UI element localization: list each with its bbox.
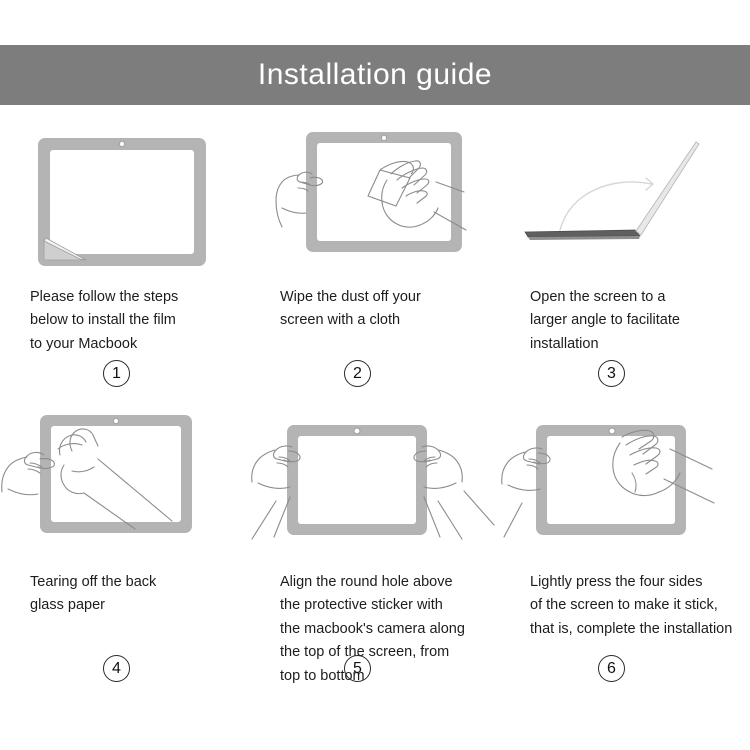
- step-2-line-2: screen with a cloth: [280, 309, 505, 332]
- step-4-line-2: glass paper: [30, 594, 255, 617]
- step-2-line-1: Wipe the dust off your: [280, 286, 505, 309]
- step-1-line-3: to your Macbook: [30, 333, 255, 356]
- step-1-text: Please follow the steps below to install…: [30, 286, 255, 356]
- step-2-illustration: [250, 120, 500, 280]
- step-badge-4: 4: [103, 655, 130, 682]
- step-card-1: Please follow the steps below to install…: [0, 120, 250, 405]
- step-6-line-2: of the screen to make it stick,: [530, 594, 750, 617]
- step-5-text: Align the round hole above the protectiv…: [280, 571, 520, 688]
- step-5-line-1: Align the round hole above: [280, 571, 520, 594]
- macbook-screen-icon: [306, 132, 462, 252]
- step-4-text: Tearing off the back glass paper: [30, 571, 255, 618]
- macbook-screen-icon: [287, 425, 427, 535]
- step-5-line-4: the top of the screen, from: [280, 641, 520, 664]
- step-1-illustration: [0, 120, 250, 280]
- step-3-line-3: installation: [530, 333, 750, 356]
- step-6-line-1: Lightly press the four sides: [530, 571, 750, 594]
- step-5-illustration: [250, 405, 500, 565]
- installation-guide-page: Installation guide: [0, 0, 750, 750]
- step-card-5: Align the round hole above the protectiv…: [250, 405, 500, 690]
- macbook-screen-icon: [38, 138, 206, 266]
- steps-grid: Please follow the steps below to install…: [0, 120, 750, 740]
- page-title: Installation guide: [258, 58, 492, 92]
- step-badge-1: 1: [103, 360, 130, 387]
- step-4-line-1: Tearing off the back: [30, 571, 255, 594]
- step-3-line-1: Open the screen to a: [530, 286, 750, 309]
- step-3-text: Open the screen to a larger angle to fac…: [530, 286, 750, 356]
- step-5-line-3: the macbook's camera along: [280, 618, 520, 641]
- step-badge-6: 6: [598, 655, 625, 682]
- step-5-line-5: top to bottom: [280, 665, 520, 688]
- step-card-3: Open the screen to a larger angle to fac…: [500, 120, 750, 405]
- step-6-illustration: [500, 405, 750, 565]
- macbook-screen-icon: [536, 425, 686, 535]
- step-3-illustration: [500, 120, 750, 280]
- step-card-6: Lightly press the four sides of the scre…: [500, 405, 750, 690]
- step-1-line-2: below to install the film: [30, 309, 255, 332]
- step-badge-5: 5: [344, 655, 371, 682]
- step-card-4: Tearing off the back glass paper 4: [0, 405, 250, 690]
- step-1-line-1: Please follow the steps: [30, 286, 255, 309]
- step-6-line-3: that is, complete the installation: [530, 618, 750, 641]
- laptop-side-profile-icon: [525, 142, 699, 240]
- step-2-text: Wipe the dust off your screen with a clo…: [280, 286, 505, 333]
- step-6-text: Lightly press the four sides of the scre…: [530, 571, 750, 641]
- step-badge-2: 2: [344, 360, 371, 387]
- step-5-line-2: the protective sticker with: [280, 594, 520, 617]
- rotation-arc-icon: [560, 182, 652, 230]
- step-3-line-2: larger angle to facilitate: [530, 309, 750, 332]
- step-4-illustration: [0, 405, 250, 565]
- step-badge-3: 3: [598, 360, 625, 387]
- step-card-2: Wipe the dust off your screen with a clo…: [250, 120, 500, 405]
- header-banner: Installation guide: [0, 45, 750, 105]
